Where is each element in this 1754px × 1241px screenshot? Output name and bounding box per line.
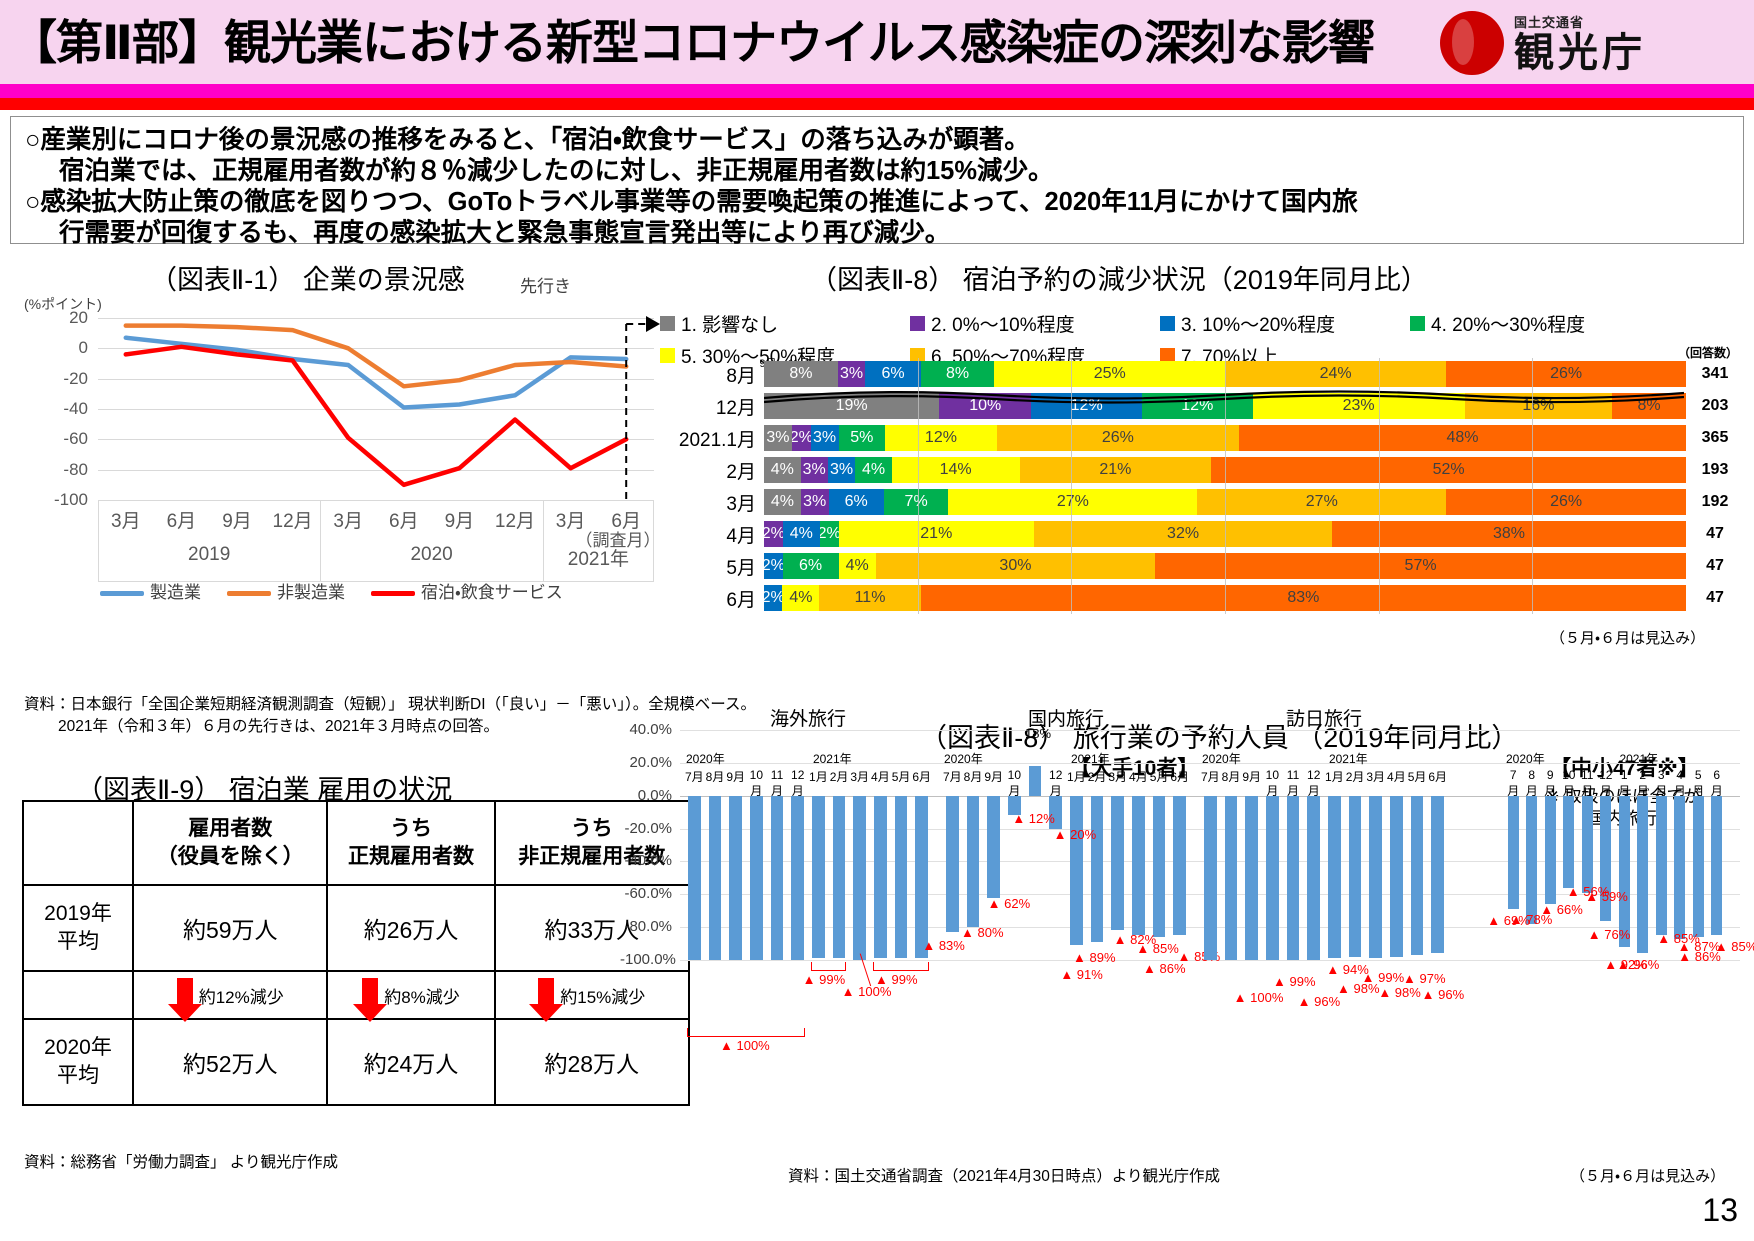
fig8-bar-row: 5月2%6%4%30%57%47 — [660, 550, 1744, 582]
fig8b-bar — [1153, 796, 1166, 937]
table-header-row: 雇用者数 （役員を除く） うち 正規雇用者数 うち 非正規雇用者数 — [23, 801, 689, 885]
fig8-segment-2: 3% — [838, 361, 866, 387]
fig8b-bar — [915, 796, 928, 959]
fig8b-year-label-2020: 2020年 — [686, 752, 725, 766]
fig8b-bar — [1091, 796, 1104, 942]
fig8-segment-6: 21% — [1020, 457, 1212, 483]
fig8b-data-label: ▲ 99% — [1362, 970, 1405, 985]
fig1-legend: 製造業非製造業宿泊・飲食サービス — [100, 578, 563, 603]
fig8b-month-tick: 7月 — [1504, 768, 1523, 799]
fig8-row-label: 2021.1月 — [660, 425, 764, 452]
fig8-segment-4: 6% — [783, 553, 839, 579]
fig8-bar-track: 4%3%3%4%14%21%52% — [764, 457, 1686, 483]
fig8-bar-row: 3月4%3%6%7%27%27%26%192 — [660, 486, 1744, 518]
fig8-row-label: 2月 — [660, 457, 764, 484]
fig8b-bar — [987, 796, 1000, 898]
fig8b-month-tick: 11月 — [767, 768, 788, 799]
fig8b-ytick: -80.0% — [620, 918, 672, 935]
down-arrow-icon — [362, 978, 378, 1012]
fig8-segment-4: 2% — [820, 521, 839, 547]
fig8-segment-7: 83% — [921, 585, 1686, 611]
fig1-xtick: 6月 — [380, 506, 428, 533]
fig8-segment-6: 11% — [819, 585, 920, 611]
fig8-row-label: 4月 — [660, 521, 764, 548]
fig8b-month-tick: 2月 — [829, 768, 850, 799]
fig8-segment-5: 14% — [892, 457, 1020, 483]
fig1-series-非製造業 — [126, 326, 626, 387]
page-title: 【第Ⅱ部】観光業における新型コロナウイルス感染症の深刻な影響 — [10, 8, 1390, 78]
fig8-legend-label: 2. 0%～10%程度 — [931, 310, 1075, 337]
fig8b-brace — [873, 962, 929, 971]
fig8-legend-item-3: 3. 10%～20%程度 — [1160, 310, 1410, 337]
page-number: 13 — [1702, 1192, 1738, 1229]
fig8-segment-5: 4% — [782, 585, 819, 611]
fig8b-month-tick: 8月 — [1221, 768, 1242, 799]
row-label-2019-l2: 平均 — [24, 928, 132, 956]
fig8b-bar — [1245, 796, 1258, 960]
fig8-row-label: 6月 — [660, 585, 764, 612]
fig8b-panel-title: 訪日旅行 — [1200, 704, 1448, 731]
fig8b-bar — [1545, 796, 1556, 904]
fig8b-bar — [1563, 796, 1574, 888]
fig8b-label-overseas-99a: ▲ 99% — [803, 972, 846, 987]
fig8b-bar — [1287, 796, 1300, 960]
rising-sun-icon — [1440, 11, 1504, 75]
fig1-xtick: 9月 — [435, 506, 483, 533]
fig8-segment-3: 3% — [811, 425, 839, 451]
fig9-source: 資料：総務省「労働力調査」 より観光庁作成 — [24, 1152, 338, 1174]
fig8b-bar — [1070, 796, 1083, 946]
fig8b-data-label: ▲ 85% — [1136, 941, 1179, 956]
fig8b-bar — [1029, 766, 1042, 796]
fig8b-bar — [1111, 796, 1124, 931]
fig8b-bar — [1328, 796, 1341, 959]
legend-line-swatch — [100, 591, 144, 596]
fig8b-month-tick: 12月 — [787, 768, 808, 799]
fig8-segment-1: 3% — [764, 425, 792, 451]
fig8-axis-break-icon — [764, 386, 1684, 404]
fig8b-month-tick: 12月 — [1045, 768, 1066, 799]
fig8b-year-label-2020: 2020年 — [944, 752, 983, 766]
fig8b-bar-charts: 40.0%20.0%0.0%-20.0%-40.0%-60.0%-80.0%-1… — [620, 690, 1754, 1060]
fig8b-ytick: -100.0% — [620, 951, 672, 968]
fig8b-data-label: ▲ 96% — [1617, 957, 1660, 972]
fig8b-ytick: 40.0% — [620, 721, 672, 738]
fig8b-month-tick: 9月 — [725, 768, 746, 799]
fig8-segment-1: 4% — [764, 457, 801, 483]
fig8-row-label: 3月 — [660, 489, 764, 516]
fig8-bar-row: 6月2%4%11%83%47 — [660, 582, 1744, 614]
fig8b-month-tick: 10月 — [1560, 768, 1579, 799]
table-change-row: 約12%減少 約8%減少 約15%減少 — [23, 971, 689, 1019]
fig8b-bar — [967, 796, 980, 927]
fig8-segment-3: 6% — [829, 489, 884, 515]
fig8b-month-tick: 3月 — [1107, 768, 1128, 799]
fig8-segment-4: 4% — [855, 457, 892, 483]
fig1-xtick: 12月 — [269, 506, 317, 533]
fig8-legend-item-4: 4. 20%～30%程度 — [1410, 310, 1660, 337]
fig8-segment-3: 4% — [783, 521, 820, 547]
fig8-legend-label: 3. 10%～20%程度 — [1181, 310, 1335, 337]
fig8b-bar — [1693, 796, 1704, 937]
fig8b-data-label: ▲ 66% — [1540, 902, 1583, 917]
fig8b-data-label: ▲ 20% — [1054, 827, 1097, 842]
fig8b-month-tick: 12月 — [1303, 768, 1324, 799]
fig8-row-label: 8月 — [660, 361, 764, 388]
fig9-table-wrap: 雇用者数 （役員を除く） うち 正規雇用者数 うち 非正規雇用者数 2019年 … — [22, 800, 712, 1106]
fig8-segment-1: 4% — [764, 489, 801, 515]
fig8b-ytick: -60.0% — [620, 885, 672, 902]
fig1-forecast-label: 先行き — [520, 272, 571, 297]
fig8-bar-row: 2月4%3%3%4%14%21%52%193 — [660, 454, 1744, 486]
fig8-bar-track: 4%3%6%7%27%27%26% — [764, 489, 1686, 515]
legend-color-swatch — [1410, 316, 1425, 331]
fig1-legend-label: 非製造業 — [277, 583, 345, 602]
fig8-segment-6: 27% — [1197, 489, 1446, 515]
fig8b-data-label: ▲ 98% — [1378, 985, 1421, 1000]
fig8b-data-label: ▲ 99% — [1273, 974, 1316, 989]
col-head-regular: うち 正規雇用者数 — [327, 801, 494, 885]
fig8b-bar — [1266, 796, 1279, 960]
change-regular: 約8%減少 — [327, 971, 494, 1019]
fig8b-ytick: -20.0% — [620, 820, 672, 837]
fig8b-month-tick: 4月 — [1386, 768, 1407, 799]
fig8-legend-item-1: 1. 影響なし — [660, 310, 910, 337]
fig8b-bar — [1369, 796, 1382, 959]
row-label-2019: 2019年 平均 — [23, 885, 133, 971]
fig1-source-line-2: 2021年（令和３年）６月の先行きは、2021年３月時点の回答。 — [58, 716, 499, 738]
fig8b-bar — [1307, 796, 1320, 960]
fig8b-source: 資料：国土交通省調査（2021年4月30日時点）より観光庁作成 — [788, 1166, 1220, 1188]
header-red-rule — [0, 98, 1754, 110]
fig8b-month-tick: 6月 — [911, 768, 932, 799]
fig8-segment-5: 12% — [885, 425, 997, 451]
fig8b-month-tick: 5月 — [1407, 768, 1428, 799]
cell-2020-regular: 約24万人 — [327, 1019, 494, 1105]
cell-2019-total: 約59万人 — [133, 885, 327, 971]
fig8b-month-tick: 11月 — [1578, 768, 1597, 799]
change-regular-inner: 約8%減少 — [328, 978, 493, 1012]
fig8b-month-tick: 7月 — [1200, 768, 1221, 799]
col-head-regular-l2: 正規雇用者数 — [328, 843, 493, 871]
fig8-segment-7: 38% — [1332, 521, 1686, 547]
fig1-legend-item-非製造業: 非製造業 — [227, 578, 345, 603]
fig8b-month-tick: 1月 — [1615, 768, 1634, 799]
fig8b-month-labels: 7月8月9月10月11月12月1月2月3月4月5月6月 — [1200, 768, 1448, 799]
fig8-segment-4: 8% — [921, 361, 995, 387]
fig8-segment-3: 2% — [764, 553, 783, 579]
summary-line-1: ○産業別にコロナ後の景況感の推移をみると、「宿泊・飲食サービス」の落ち込みが顕著… — [25, 125, 1729, 156]
fig8b-bar — [1173, 796, 1186, 936]
fig8-segment-7: 57% — [1155, 553, 1686, 579]
fig8-segment-3: 2% — [764, 585, 782, 611]
fig8b-bar — [1711, 796, 1722, 936]
row-label-2019-l1: 2019年 — [24, 900, 132, 928]
change-regular-text: 約8%減少 — [384, 983, 460, 1008]
cell-2020-total: 約52万人 — [133, 1019, 327, 1105]
fig1-xtick: 9月 — [213, 506, 261, 533]
fig8-response-count: 341 — [1686, 365, 1744, 383]
fig8-response-count: 47 — [1686, 589, 1744, 607]
fig8b-year-label-2020: 2020年 — [1202, 752, 1241, 766]
fig8b-data-label: ▲ 89% — [1073, 950, 1116, 965]
fig1-xgroup-separator — [320, 500, 321, 582]
fig1-title: （図表Ⅱ-1） 企業の景況感 — [150, 258, 465, 297]
fig8-bar-track: 3%2%3%5%12%26%48% — [764, 425, 1686, 451]
summary-line-3: ○感染拡大防止策の徹底を図りつつ、GoToトラベル事業等の需要喚起策の推進によっ… — [25, 187, 1729, 218]
fig8b-month-tick: 3月 — [1652, 768, 1671, 799]
fig8-segment-7: 26% — [1446, 361, 1686, 387]
fig8-segment-4: 7% — [884, 489, 949, 515]
fig8-response-count: 193 — [1686, 461, 1744, 479]
fig8-bar-row: 2021.1月3%2%3%5%12%26%48%365 — [660, 422, 1744, 454]
change-total-inner: 約12%減少 — [134, 978, 326, 1012]
cell-2019-regular: 約26万人 — [327, 885, 494, 971]
logo-text: 国土交通省 観光庁 — [1514, 12, 1646, 75]
fig1-legend-item-製造業: 製造業 — [100, 578, 201, 603]
change-total: 約12%減少 — [133, 971, 327, 1019]
logo-agency-label: 観光庁 — [1514, 31, 1646, 75]
legend-line-swatch — [227, 591, 271, 596]
legend-color-swatch — [660, 316, 675, 331]
table-corner-cell — [23, 801, 133, 885]
fig8b-year-label-2021: 2021年 — [813, 752, 852, 766]
fig8-segment-7: 26% — [1446, 489, 1686, 515]
fig1-xgroup-separator — [543, 500, 544, 582]
fig8b-bar — [833, 796, 846, 959]
fig8b-data-label: ▲ 91% — [1060, 967, 1103, 982]
row-label-2020-l1: 2020年 — [24, 1034, 132, 1062]
fig8b-month-tick: 4月 — [1128, 768, 1149, 799]
fig8-legend-label: 1. 影響なし — [681, 310, 778, 337]
fig8b-month-tick: 9月 — [1541, 768, 1560, 799]
fig8b-month-tick: 7月 — [942, 768, 963, 799]
fig8b-month-tick: 10月 — [1262, 768, 1283, 799]
fig8-segment-7: 52% — [1211, 457, 1686, 483]
fig8b-data-label: ▲ 96% — [1298, 994, 1341, 1009]
fig8b-year-label-2021: 2021年 — [1329, 752, 1368, 766]
fig8b-month-tick: 9月 — [1241, 768, 1262, 799]
fig8b-month-labels: 7月8月9月10月11月12月1月2月3月4月5月6月 — [1504, 768, 1726, 799]
legend-color-swatch — [910, 316, 925, 331]
fig8-segment-6: 32% — [1034, 521, 1332, 547]
fig1-xtick: 3月 — [102, 506, 150, 533]
fig8b-panel-海外旅行: 海外旅行2020年2021年7月8月9月10月11月12月1月2月3月4月5月6… — [684, 690, 932, 990]
down-arrow-icon — [538, 978, 554, 1012]
fig8b-brace — [687, 1028, 805, 1037]
fig8b-panel-訪日旅行: 訪日旅行2020年2021年7月8月9月10月11月12月1月2月3月4月5月6… — [1200, 690, 1448, 990]
fig8-legend-label: 4. 20%～30%程度 — [1431, 310, 1585, 337]
fig8-legend-row: 1. 影響なし2. 0%～10%程度3. 10%～20%程度4. 20%～30%… — [660, 310, 1744, 337]
fig1-legend-item-宿泊・飲食サービス: 宿泊・飲食サービス — [371, 578, 563, 603]
fig8b-bar — [771, 796, 784, 960]
fig8-segment-6: 24% — [1225, 361, 1446, 387]
fig8-segment-3: 3% — [828, 457, 855, 483]
fig8b-month-tick: 6月 — [1708, 768, 1727, 799]
fig8-bar-row: 4月2%4%2%21%32%38%47 — [660, 518, 1744, 550]
fig8b-bar — [1431, 796, 1444, 954]
fig8b-month-labels: 7月8月9月10月11月12月1月2月3月4月5月6月 — [684, 768, 932, 799]
row-label-2020: 2020年 平均 — [23, 1019, 133, 1105]
fig8b-month-tick: 5月 — [1149, 768, 1170, 799]
fig8b-month-tick: 5月 — [891, 768, 912, 799]
summary-line-4: 行需要が回復するも、再度の感染拡大と緊急事態宣言発出等により再び減少。 — [25, 218, 1729, 249]
fig8-segment-1: 8% — [764, 361, 838, 387]
fig8b-bar — [812, 796, 825, 959]
col-head-total-l2: （役員を除く） — [134, 843, 326, 871]
fig8b-ytick: -40.0% — [620, 852, 672, 869]
fig1-forecast-arrow-icon — [646, 316, 660, 332]
fig8b-bar — [1656, 796, 1667, 936]
fig8-response-count: 365 — [1686, 429, 1744, 447]
logo-ministry-label: 国土交通省 — [1514, 12, 1646, 31]
fig1-xtick: 3月 — [324, 506, 372, 533]
fig8b-bar — [1349, 796, 1362, 957]
fig8-segment-2: 3% — [801, 457, 828, 483]
fig8b-ytick: 0.0% — [620, 787, 672, 804]
fig8b-label-overseas-100a: ▲ 100% — [720, 1038, 770, 1053]
fig8b-year-label-2021: 2021年 — [1071, 752, 1110, 766]
fig1-line-chart: (%ポイント) 先行き 200-20-40-60-80-100 3月6月9月12… — [20, 300, 670, 600]
fig8b-bar — [1674, 796, 1685, 939]
fig8b-month-tick: 3月 — [849, 768, 870, 799]
fig8-title: （図表Ⅱ-8） 宿泊予約の減少状況（2019年同月比） — [810, 258, 1428, 297]
fig8b-data-label: ▲ 83% — [922, 938, 965, 953]
fig8-bar-track: 2%4%11%83% — [764, 585, 1686, 611]
fig8b-month-tick: 9月 — [983, 768, 1004, 799]
fig8b-month-tick: 1月 — [1324, 768, 1345, 799]
fig8b-year-label-2021: 2021年 — [1619, 752, 1658, 766]
fig8b-month-tick: 1月 — [1066, 768, 1087, 799]
fig8b-data-label: ▲ 80% — [961, 925, 1004, 940]
fig8b-month-tick: 5月 — [1689, 768, 1708, 799]
fig8b-bar — [1619, 796, 1630, 947]
fig8b-panel-title: 海外旅行 — [684, 704, 932, 731]
fig8-segment-2: 2% — [792, 425, 811, 451]
fig8-footnote: （５月・６月は見込み） — [1550, 628, 1705, 650]
fig8-segment-2: 2% — [764, 521, 783, 547]
fig8b-bar — [1526, 796, 1537, 924]
slide-root: 【第Ⅱ部】観光業における新型コロナウイルス感染症の深刻な影響 国土交通省 観光庁… — [0, 0, 1754, 1241]
table-row: 2019年 平均 約59万人 約26万人 約33万人 — [23, 885, 689, 971]
fig8b-month-tick: 10月 — [746, 768, 767, 799]
fig8b-bar — [791, 796, 804, 960]
fig8-segment-6: 26% — [997, 425, 1239, 451]
fig8b-panel-minor: 2020年2021年7月8月9月10月11月12月1月2月3月4月5月6月▲ 6… — [1504, 690, 1726, 990]
col-head-regular-l1: うち — [328, 815, 493, 843]
fig8b-bar — [1508, 796, 1519, 909]
fig8-segment-4: 5% — [839, 425, 886, 451]
fig8b-data-label: ▲ 100% — [1234, 990, 1284, 1005]
fig8b-brace — [811, 962, 846, 971]
fig8-segment-5: 21% — [839, 521, 1035, 547]
legend-color-swatch — [1160, 316, 1175, 331]
fig1-xtick: 12月 — [491, 506, 539, 533]
fig8b-month-tick: 2月 — [1634, 768, 1653, 799]
fig8b-bar — [1411, 796, 1424, 955]
fig8b-month-tick: 11月 — [1283, 768, 1304, 799]
fig8-row-label: 12月 — [660, 393, 764, 420]
fig8-bar-track: 8%3%6%8%25%24%26% — [764, 361, 1686, 387]
fig8-response-count: 203 — [1686, 397, 1744, 415]
fig8b-bar — [709, 796, 722, 960]
fig8b-bar — [1582, 796, 1593, 893]
fig8b-bar — [1132, 796, 1145, 936]
fig8b-month-labels: 7月8月9月10月11月12月1月2月3月4月5月6月 — [942, 768, 1190, 799]
summary-box: ○産業別にコロナ後の景況感の推移をみると、「宿泊・飲食サービス」の落ち込みが顕著… — [10, 116, 1744, 244]
fig8b-month-tick: 2月 — [1087, 768, 1108, 799]
fig8b-data-label: ▲ 59% — [1585, 889, 1628, 904]
fig8b-month-tick: 1月 — [808, 768, 829, 799]
fig8b-bar — [750, 796, 763, 960]
fig8b-month-tick: 3月 — [1365, 768, 1386, 799]
fig8b-month-tick: 6月 — [1169, 768, 1190, 799]
row-label-2020-l2: 平均 — [24, 1062, 132, 1090]
fig8-response-count: 192 — [1686, 493, 1744, 511]
table-row: 2020年 平均 約52万人 約24万人 約28万人 — [23, 1019, 689, 1105]
fig8-segment-7: 48% — [1239, 425, 1686, 451]
fig8b-month-tick: 8月 — [1523, 768, 1542, 799]
header-magenta-rule — [0, 84, 1754, 98]
fig1-legend-label: 宿泊・飲食サービス — [421, 583, 563, 602]
fig8b-month-tick: 6月 — [1427, 768, 1448, 799]
fig8-segment-5: 25% — [994, 361, 1225, 387]
fig8-response-count: 47 — [1686, 557, 1744, 575]
legend-line-swatch — [371, 591, 415, 596]
fig8b-bar — [1204, 796, 1217, 960]
fig8b-bar — [853, 796, 866, 960]
fig8b-month-tick: 10月 — [1004, 768, 1025, 799]
fig8-legend-item-2: 2. 0%～10%程度 — [910, 310, 1160, 337]
fig1-survey-month-label: （調査月） — [568, 526, 668, 551]
fig8b-panel-国内旅行: 国内旅行2020年2021年7月8月9月10月11月12月1月2月3月4月5月6… — [942, 690, 1190, 990]
fig8-segment-2: 3% — [801, 489, 829, 515]
fig8b-ytick: 20.0% — [620, 754, 672, 771]
fig8b-data-label: ▲ 62% — [988, 896, 1031, 911]
fig8b-month-tick: 8月 — [705, 768, 726, 799]
agency-logo: 国土交通省 観光庁 — [1440, 4, 1740, 82]
fig1-legend-label: 製造業 — [150, 583, 201, 602]
fig8b-data-label: ▲ 76% — [1588, 927, 1631, 942]
fig8-row-label: 5月 — [660, 553, 764, 580]
fig8-bar-track: 2%6%4%30%57% — [764, 553, 1686, 579]
fig8b-bar — [1390, 796, 1403, 957]
fig8-segment-3: 6% — [865, 361, 920, 387]
fig8b-data-label: ▲ 97% — [1403, 971, 1446, 986]
fig8b-month-tick: 2月 — [1345, 768, 1366, 799]
fig8b-panel-title: 国内旅行 — [942, 704, 1190, 731]
fig1-xgroup: 2020 — [382, 544, 482, 566]
fig8b-data-label: ▲ 96% — [1422, 987, 1465, 1002]
fig8-stacked-chart: 1. 影響なし2. 0%～10%程度3. 10%～20%程度4. 20%～30%… — [660, 310, 1744, 630]
fig8b-month-tick: 4月 — [1671, 768, 1690, 799]
employment-table: 雇用者数 （役員を除く） うち 正規雇用者数 うち 非正規雇用者数 2019年 … — [22, 800, 690, 1106]
fig1-xtick: 6月 — [157, 506, 205, 533]
fig8b-bar — [729, 796, 742, 960]
fig8b-data-label: ▲ 85% — [1715, 939, 1754, 954]
fig8b-label-overseas-100b: ▲ 100% — [842, 984, 892, 999]
fig8-segment-5: 4% — [839, 553, 876, 579]
down-arrow-icon — [177, 978, 193, 1012]
fig8b-month-tick: 12月 — [1597, 768, 1616, 799]
fig8b-month-tick: 4月 — [870, 768, 891, 799]
fig8b-footnote: （５月・６月は見込み） — [1570, 1166, 1725, 1188]
fig1-xgroup: 2019 — [159, 544, 259, 566]
fig8b-bar — [874, 796, 887, 959]
fig8b-bar — [688, 796, 701, 960]
fig8-segment-6: 30% — [876, 553, 1155, 579]
fig8-bar-track: 2%4%2%21%32%38% — [764, 521, 1686, 547]
